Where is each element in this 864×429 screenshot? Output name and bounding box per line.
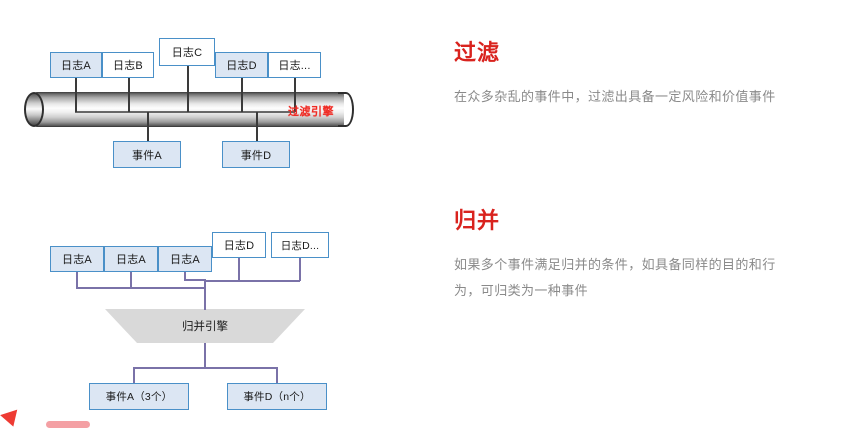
merge-feed-line-d — [238, 258, 240, 281]
merge-input-log-a-3[interactable]: 日志A — [158, 246, 212, 272]
merge-feed-rail-a3 — [184, 279, 206, 281]
merge-output-line-a — [133, 367, 135, 384]
merge-feed-line-a1 — [76, 272, 78, 288]
filter-output-line-d — [256, 112, 258, 142]
filter-input-log-more[interactable]: 日志... — [268, 52, 321, 78]
merge-engine-label: 归并引擎 — [182, 318, 228, 334]
filter-input-log-c-label: 日志C — [172, 44, 203, 60]
merge-output-event-a-label: 事件A（3个） — [106, 389, 173, 404]
filter-input-log-b[interactable]: 日志B — [102, 52, 154, 78]
filter-output-line-a — [147, 112, 149, 142]
filter-drop-line-d — [241, 78, 243, 112]
merge-feed-line-d-more — [299, 258, 301, 281]
filter-drop-line-b — [128, 78, 130, 112]
merge-input-log-a-1[interactable]: 日志A — [50, 246, 104, 272]
cylinder-left-cap — [24, 92, 44, 127]
merge-input-log-d-label: 日志D — [224, 237, 255, 253]
merge-input-log-a-3-label: 日志A — [170, 251, 200, 267]
section-merge-heading: 归并 — [454, 208, 784, 234]
merge-input-log-a-2[interactable]: 日志A — [104, 246, 158, 272]
filter-input-log-a-label: 日志A — [61, 57, 91, 73]
merge-output-trunk — [204, 343, 206, 368]
merge-output-event-d-label: 事件D（n个） — [243, 389, 310, 404]
section-filter: 过滤 在众多杂乱的事件中，过滤出具备一定风险和价值事件 — [454, 40, 784, 110]
merge-input-log-d[interactable]: 日志D — [212, 232, 266, 258]
merge-engine-shape[interactable]: 归并引擎 — [105, 309, 305, 343]
section-filter-body: 在众多杂乱的事件中，过滤出具备一定风险和价值事件 — [454, 84, 784, 110]
merge-output-event-a[interactable]: 事件A（3个） — [89, 383, 189, 410]
filter-output-event-d[interactable]: 事件D — [222, 141, 290, 168]
filter-engine-label: 过滤引擎 — [288, 103, 334, 119]
section-merge: 归并 如果多个事件满足归并的条件，如具备同样的目的和行为，可归类为一种事件 — [454, 208, 784, 304]
filter-drop-line-a — [75, 78, 77, 112]
filter-input-log-d-label: 日志D — [226, 57, 257, 73]
section-merge-body: 如果多个事件满足归并的条件，如具备同样的目的和行为，可归类为一种事件 — [454, 252, 784, 304]
filter-input-log-b-label: 日志B — [113, 57, 143, 73]
filter-input-log-more-label: 日志... — [278, 57, 310, 73]
filter-output-event-a[interactable]: 事件A — [113, 141, 181, 168]
slide-canvas: 日志A 日志B 日志C 日志D 日志... 过滤引擎 — [0, 0, 864, 427]
merge-input-log-a-2-label: 日志A — [116, 251, 146, 267]
merge-input-log-d-more-label: 日志D... — [281, 238, 320, 253]
merge-feed-rail-upper — [204, 280, 300, 282]
section-filter-heading: 过滤 — [454, 40, 784, 66]
cylinder-right-cap — [338, 92, 354, 127]
filter-input-log-c[interactable]: 日志C — [159, 38, 215, 66]
merge-feed-rail-lower — [76, 287, 204, 289]
filter-drop-line-c — [187, 66, 189, 112]
merge-output-event-d[interactable]: 事件D（n个） — [227, 383, 327, 410]
merge-output-rail — [133, 367, 277, 369]
filter-output-event-a-label: 事件A — [132, 147, 162, 163]
filter-input-log-a[interactable]: 日志A — [50, 52, 102, 78]
merge-output-line-d — [276, 367, 278, 384]
merge-input-log-a-1-label: 日志A — [62, 251, 92, 267]
filter-input-log-d[interactable]: 日志D — [215, 52, 268, 78]
filter-pipe-rail — [75, 111, 295, 113]
merge-input-log-d-more[interactable]: 日志D... — [271, 232, 329, 258]
decorative-arrow-icon — [0, 410, 22, 429]
filter-output-event-d-label: 事件D — [241, 147, 272, 163]
merge-feed-trunk — [204, 280, 206, 310]
merge-feed-line-a2 — [130, 272, 132, 288]
